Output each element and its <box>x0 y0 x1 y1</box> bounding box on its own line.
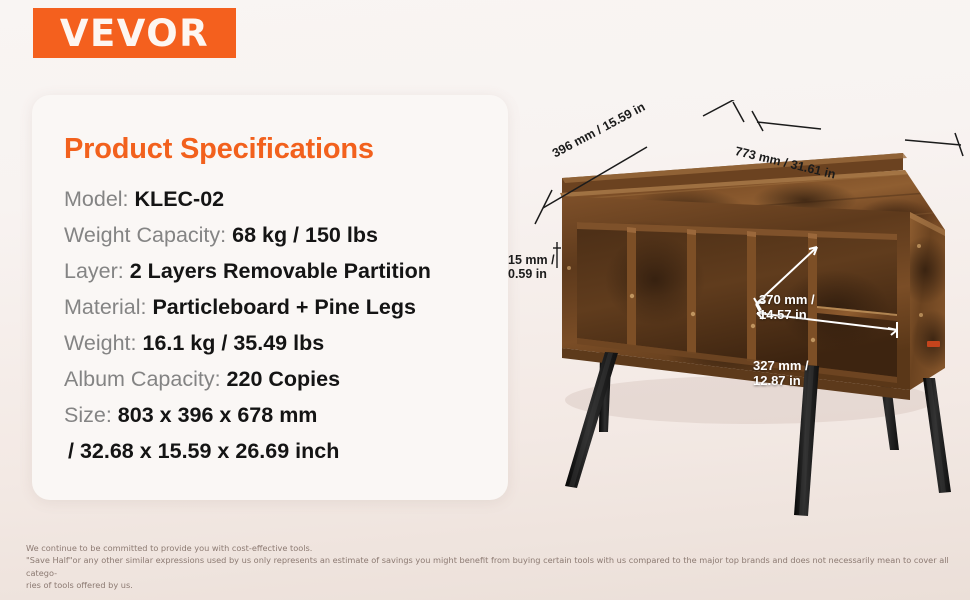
spec-row-weight-capacity: Weight Capacity: 68 kg / 150 lbs <box>64 217 484 253</box>
footer-disclaimer: We continue to be committed to provide y… <box>26 542 956 592</box>
dimension-label-lower-compartment: 327 mm / 12.87 in <box>753 358 809 388</box>
dimension-upper-line1: 370 mm / <box>759 292 815 307</box>
spec-row-layer: Layer: 2 Layers Removable Partition <box>64 253 484 289</box>
dimension-label-thickness: 15 mm / 0.59 in <box>508 253 555 281</box>
dimension-thickness-line1: 15 mm / <box>508 253 555 267</box>
spec-row-album-capacity: Album Capacity: 220 Copies <box>64 361 484 397</box>
disclaimer-line-1: We continue to be committed to provide y… <box>26 542 956 554</box>
cabinet-illustration <box>505 100 970 540</box>
spec-label: Album Capacity: <box>64 367 221 391</box>
dimension-thickness-line2: 0.59 in <box>508 267 555 281</box>
spec-value: 2 Layers Removable Partition <box>130 259 431 283</box>
spec-value: 803 x 396 x 678 mm <box>118 403 318 427</box>
spec-value: 16.1 kg / 35.49 lbs <box>142 331 324 355</box>
product-spec-banner: VEVOR Product Specifications Model: KLEC… <box>0 0 970 600</box>
dim-tick-width-start <box>752 111 763 131</box>
spec-label: Model: <box>64 187 129 211</box>
dim-tick-depth-end <box>733 102 744 122</box>
dimension-lower-line2: 12.87 in <box>753 373 809 388</box>
dimension-label-upper-compartment: 370 mm / 14.57 in <box>759 292 815 322</box>
cabinet-front-face <box>562 196 910 400</box>
spec-label: Weight Capacity: <box>64 223 226 247</box>
spec-label: Layer: <box>64 259 124 283</box>
specification-list: Model: KLEC-02 Weight Capacity: 68 kg / … <box>64 181 484 469</box>
disclaimer-line-2: "Save Half"or any other similar expressi… <box>26 554 956 579</box>
spec-row-weight: Weight: 16.1 kg / 35.49 lbs <box>64 325 484 361</box>
dim-line-depth-upper <box>703 100 737 116</box>
disclaimer-line-3: ries of tools offered by us. <box>26 579 956 591</box>
spec-row-size: Size: 803 x 396 x 678 mm <box>64 397 484 433</box>
dim-line-width-left <box>757 122 821 129</box>
page-title: Product Specifications <box>64 133 374 166</box>
spec-value: KLEC-02 <box>135 187 225 211</box>
spec-label: Size: <box>64 403 112 427</box>
vevor-logo: VEVOR <box>33 8 236 58</box>
spec-label: Material: <box>64 295 146 319</box>
spec-value: 220 Copies <box>227 367 341 391</box>
spec-label: Weight: <box>64 331 137 355</box>
product-image: 396 mm / 15.59 in 773 mm / 31.61 in 15 m… <box>505 100 970 540</box>
spec-value: 68 kg / 150 lbs <box>232 223 378 247</box>
dimension-upper-line2: 14.57 in <box>759 307 815 322</box>
specifications-card: Product Specifications Model: KLEC-02 We… <box>32 95 508 500</box>
spec-value: / 32.68 x 15.59 x 26.69 inch <box>64 439 339 463</box>
spec-row-material: Material: Particleboard + Pine Legs <box>64 289 484 325</box>
spec-row-model: Model: KLEC-02 <box>64 181 484 217</box>
spec-row-size-imperial: / 32.68 x 15.59 x 26.69 inch <box>64 433 484 469</box>
dim-line-width-right <box>905 140 961 145</box>
brand-wordmark: VEVOR <box>60 15 209 52</box>
dimension-lower-line1: 327 mm / <box>753 358 809 373</box>
spec-value: Particleboard + Pine Legs <box>152 295 415 319</box>
brand-tag <box>927 341 940 347</box>
